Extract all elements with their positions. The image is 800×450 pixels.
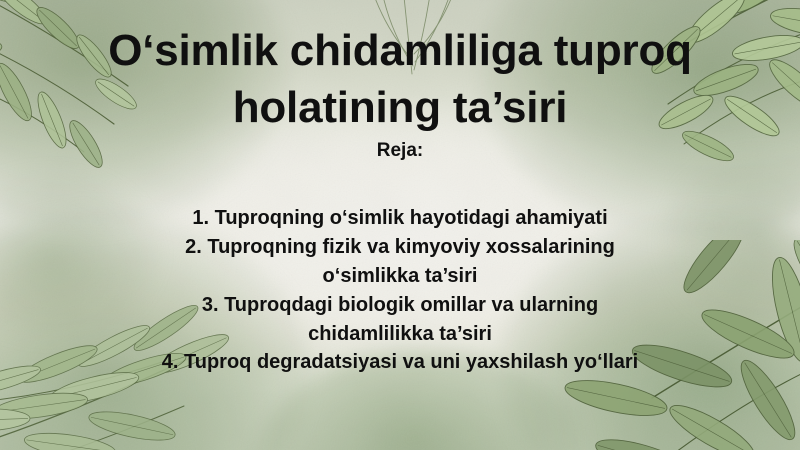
slide-content: O‘simlik chidamliliga tuproq holatining … <box>0 0 800 450</box>
page-title: O‘simlik chidamliliga tuproq holatining … <box>60 22 740 136</box>
list-item: 4. Tuproq degradatsiyasi va uni yaxshila… <box>90 348 710 377</box>
title-line-1: O‘simlik chidamliliga tuproq <box>108 26 692 75</box>
list-item: 2. Tuproqning fizik va kimyoviy xossalar… <box>90 233 710 262</box>
list-item: 1. Tuproqning o‘simlik hayotidagi ahamiy… <box>90 204 710 233</box>
list-item: chidamlilikka ta’siri <box>90 320 710 349</box>
list-item: o‘simlikka ta’siri <box>90 262 710 291</box>
title-line-2: holatining ta’siri <box>233 83 568 132</box>
list-item: 3. Tuproqdagi biologik omillar va ularni… <box>90 291 710 320</box>
plan-list: 1. Tuproqning o‘simlik hayotidagi ahamiy… <box>90 204 710 377</box>
section-label: Reja: <box>377 140 423 162</box>
presentation-slide: O‘simlik chidamliliga tuproq holatining … <box>0 0 800 450</box>
